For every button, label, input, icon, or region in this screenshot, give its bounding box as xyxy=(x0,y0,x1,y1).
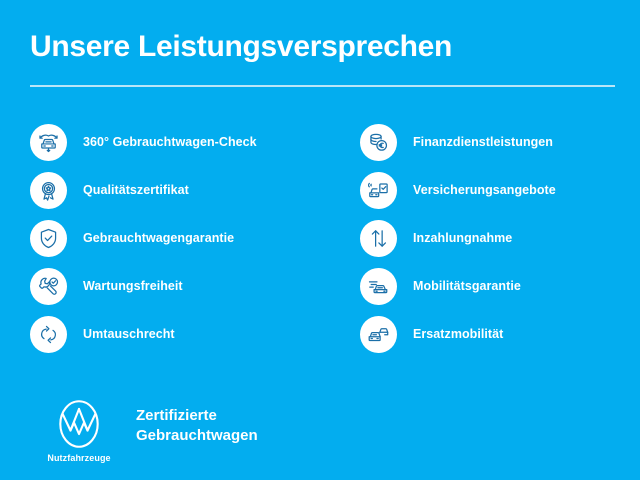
up-down-arrows-icon xyxy=(360,220,397,257)
coins-euro-icon xyxy=(360,124,397,161)
feature-label: Umtauschrecht xyxy=(83,327,175,341)
title-divider xyxy=(30,85,615,87)
footer-tagline-line2: Gebrauchtwagen xyxy=(136,426,258,446)
exchange-arrows-icon xyxy=(30,316,67,353)
brand-block: Nutzfahrzeuge xyxy=(30,398,128,463)
car-document-icon xyxy=(360,172,397,209)
footer-tagline: Zertifizierte Gebrauchtwagen xyxy=(136,406,258,447)
footer-tagline-line1: Zertifizierte xyxy=(136,406,258,426)
two-cars-icon xyxy=(360,316,397,353)
feature-label: Gebrauchtwagengarantie xyxy=(83,231,234,245)
feature-label: Mobilitätsgarantie xyxy=(413,279,521,293)
feature-label: Finanzdienstleistungen xyxy=(413,135,553,149)
feature-label: 360° Gebrauchtwagen-Check xyxy=(83,135,257,149)
feature-item-umtauschrecht[interactable]: Umtauschrecht xyxy=(30,310,330,358)
car-motion-icon xyxy=(360,268,397,305)
shield-check-icon xyxy=(30,220,67,257)
feature-item-versicherungsangebote[interactable]: Versicherungsangebote xyxy=(360,166,630,214)
feature-label: Qualitätszertifikat xyxy=(83,183,189,197)
feature-item-gebrauchtwagengarantie[interactable]: Gebrauchtwagengarantie xyxy=(30,214,330,262)
feature-item-inzahlungnahme[interactable]: Inzahlungnahme xyxy=(360,214,630,262)
car-check-icon xyxy=(30,124,67,161)
vw-logo-icon xyxy=(53,398,105,450)
features-column-right: Finanzdienstleistungen Versicherungsange… xyxy=(360,118,630,358)
feature-item-ersatzmobilitaet[interactable]: Ersatzmobilität xyxy=(360,310,630,358)
feature-label: Wartungsfreiheit xyxy=(83,279,183,293)
feature-item-mobilitaetsgarantie[interactable]: Mobilitätsgarantie xyxy=(360,262,630,310)
wrench-check-icon xyxy=(30,268,67,305)
brand-subtitle: Nutzfahrzeuge xyxy=(47,453,110,463)
feature-item-qualitaetszertifikat[interactable]: Qualitätszertifikat xyxy=(30,166,330,214)
feature-label: Inzahlungnahme xyxy=(413,231,512,245)
features-column-left: 360° Gebrauchtwagen-Check Qualitätszerti… xyxy=(30,118,330,358)
feature-item-gebrauchtwagen-check[interactable]: 360° Gebrauchtwagen-Check xyxy=(30,118,330,166)
award-rosette-icon xyxy=(30,172,67,209)
promo-slide: Unsere Leistungsversprechen 360° G xyxy=(0,0,640,480)
feature-label: Ersatzmobilität xyxy=(413,327,503,341)
page-title: Unsere Leistungsversprechen xyxy=(30,30,452,63)
feature-label: Versicherungsangebote xyxy=(413,183,556,197)
feature-item-finanzdienstleistungen[interactable]: Finanzdienstleistungen xyxy=(360,118,630,166)
feature-item-wartungsfreiheit[interactable]: Wartungsfreiheit xyxy=(30,262,330,310)
footer-brand: Nutzfahrzeuge Zertifizierte Gebrauchtwag… xyxy=(30,398,258,463)
